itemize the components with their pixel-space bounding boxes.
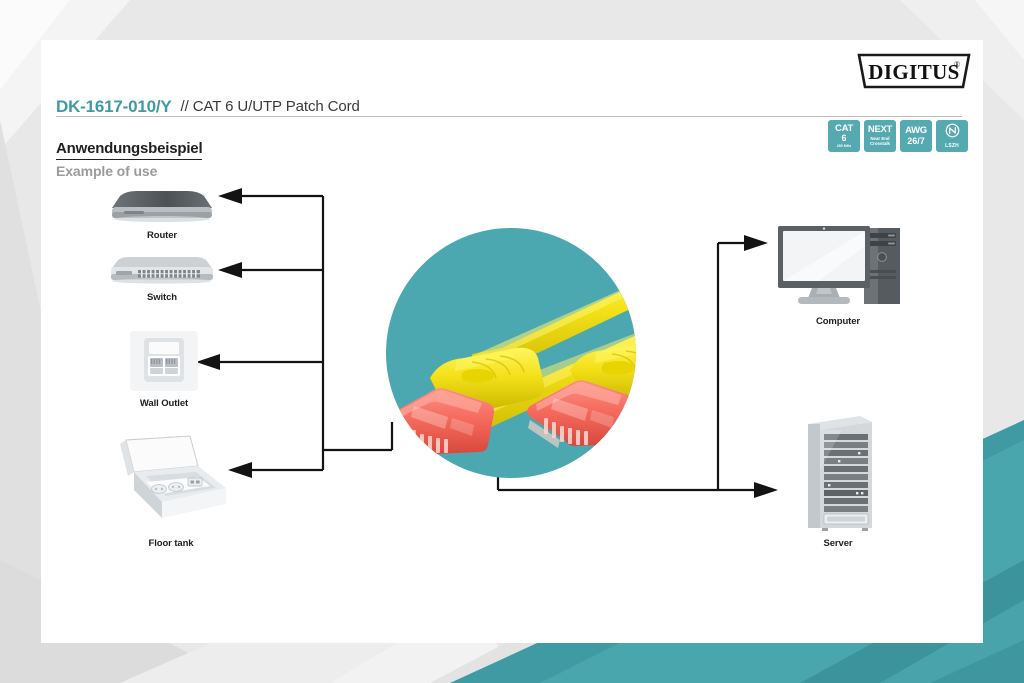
switch-icon	[108, 256, 216, 286]
digitus-logo: DIGITUS ®	[857, 53, 971, 89]
product-sku: DK-1617-010/Y	[56, 98, 172, 116]
cat6-badge-line3: 250 MHz	[837, 144, 851, 148]
section-title-de: Anwendungsbeispiel	[56, 140, 202, 160]
switch-label: Switch	[108, 292, 216, 303]
cat6-badge-line1: CAT	[835, 124, 853, 134]
computer-icon	[772, 226, 904, 310]
router-label: Router	[108, 230, 216, 241]
next-badge-sub: Near End Crosstalk	[870, 136, 890, 147]
next-badge: NEXT Near End Crosstalk	[864, 120, 896, 152]
logo-registered-mark: ®	[954, 60, 960, 69]
router-icon	[108, 190, 216, 224]
header-divider	[56, 116, 962, 117]
lszh-no-halogen-icon	[945, 123, 960, 142]
computer-label: Computer	[772, 316, 904, 327]
product-header: DK-1617-010/Y // CAT 6 U/UTP Patch Cord	[56, 92, 936, 116]
floor-tank-label: Floor tank	[112, 538, 230, 549]
node-floor-tank: Floor tank	[112, 432, 230, 549]
node-switch: Switch	[108, 256, 216, 303]
product-description: // CAT 6 U/UTP Patch Cord	[181, 98, 360, 116]
wall-outlet-icon	[129, 330, 199, 392]
awg-badge-line2: 26/7	[907, 137, 925, 146]
awg-badge: AWG 26/7	[900, 120, 932, 152]
cat6-badge: CAT 6 250 MHz	[828, 120, 860, 152]
section-title-en: Example of use	[56, 163, 157, 179]
node-wall-outlet: Wall Outlet	[120, 330, 208, 409]
lszh-badge: LSZH	[936, 120, 968, 152]
cat6-badge-line2: 6	[841, 134, 846, 143]
feature-badges: CAT 6 250 MHz NEXT Near End Crosstalk AW…	[828, 120, 968, 152]
node-router: Router	[108, 190, 216, 241]
floor-tank-icon	[112, 432, 230, 532]
server-label: Server	[786, 538, 890, 549]
node-server: Server	[786, 410, 890, 549]
next-badge-line1: NEXT	[868, 125, 892, 135]
wall-outlet-label: Wall Outlet	[120, 398, 208, 409]
slide-canvas: DIGITUS ® DK-1617-010/Y // CAT 6 U/UTP P…	[0, 0, 1024, 683]
server-icon	[798, 410, 878, 532]
awg-badge-line1: AWG	[905, 126, 927, 136]
lszh-badge-label: LSZH	[945, 144, 959, 149]
node-computer: Computer	[772, 226, 904, 327]
product-hero	[352, 228, 670, 478]
logo-wordmark: DIGITUS	[868, 60, 960, 84]
